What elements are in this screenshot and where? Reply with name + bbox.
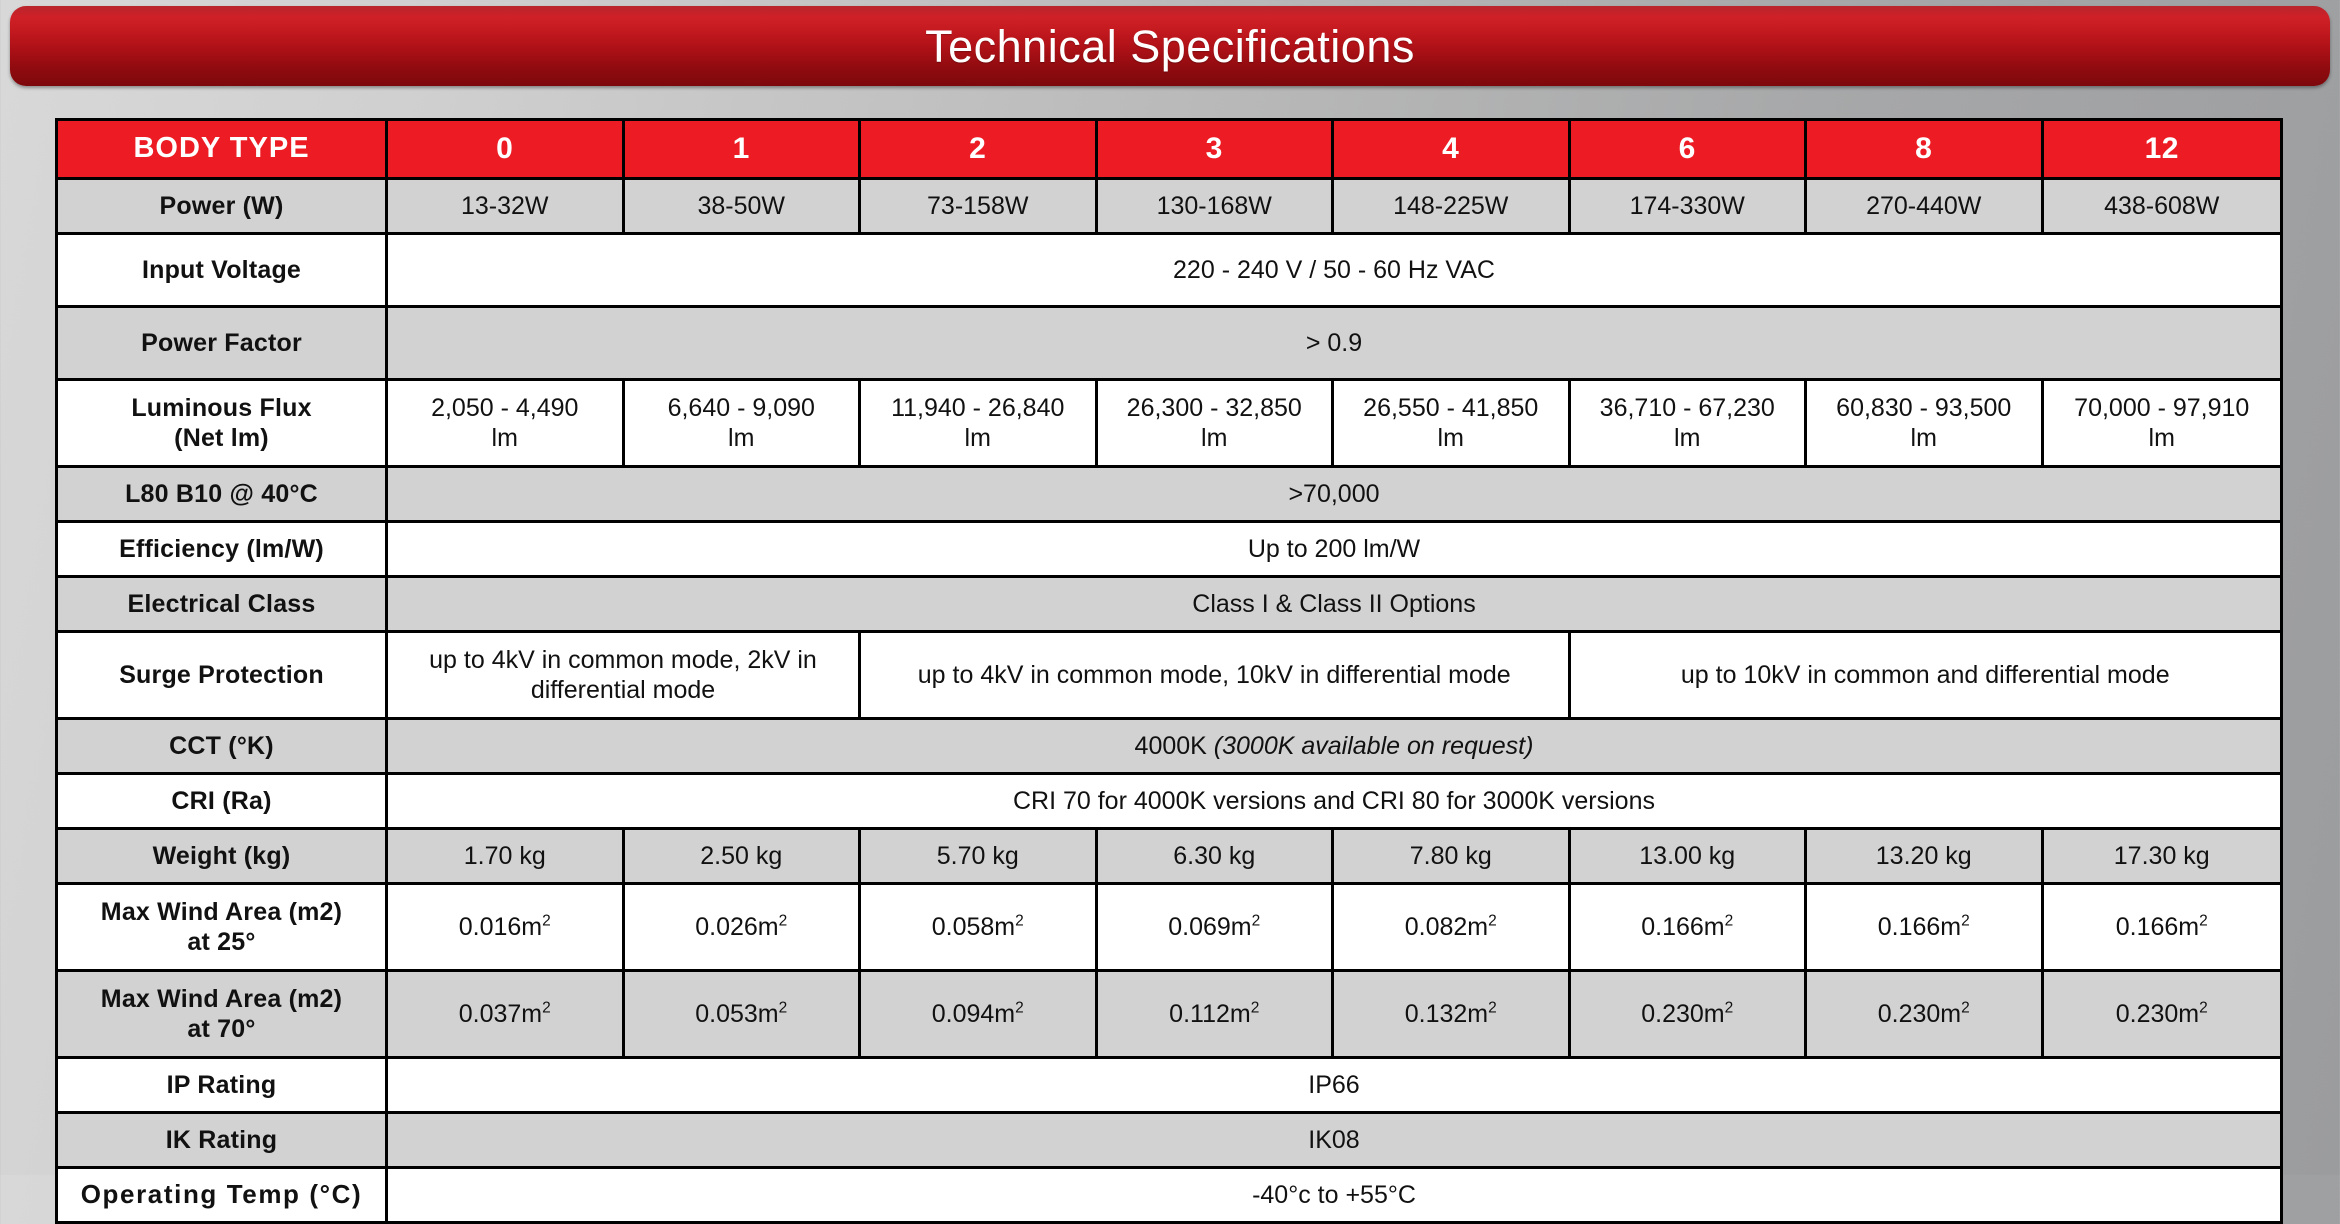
header-col-3: 3 (1098, 121, 1335, 180)
table-row: Max Wind Area (m2) at 25° 0.016m2 0.026m… (58, 885, 2280, 972)
row-label-l80-b10: L80 B10 @ 40°C (58, 468, 388, 523)
cell-luminous-flux-1: 6,640 - 9,090lm (625, 381, 862, 468)
cell-wind70-4: 0.132m2 (1334, 972, 1571, 1059)
cell-wind25-2: 0.058m2 (861, 885, 1098, 972)
cell-power-2: 73-158W (861, 180, 1098, 235)
row-label-surge-protection: Surge Protection (58, 633, 388, 720)
header-col-6: 6 (1571, 121, 1808, 180)
cell-power-1: 38-50W (625, 180, 862, 235)
cell-luminous-flux-3: 26,300 - 32,850lm (1098, 381, 1335, 468)
row-label-power-factor: Power Factor (58, 308, 388, 381)
page-title: Technical Specifications (925, 24, 1415, 69)
cell-wind70-12: 0.230m2 (2044, 972, 2281, 1059)
cell-electrical-class: Class I & Class II Options (388, 578, 2280, 633)
cell-power-3: 130-168W (1098, 180, 1335, 235)
cell-weight-1: 2.50 kg (625, 830, 862, 885)
row-label-max-wind-area-70: Max Wind Area (m2) at 70° (58, 972, 388, 1059)
table-row: Operating Temp (°C) -40°c to +55°C (58, 1169, 2280, 1221)
cell-power-4: 148-225W (1334, 180, 1571, 235)
row-label-power: Power (W) (58, 180, 388, 235)
row-label-line-2: at 70° (64, 1014, 379, 1045)
row-label-ik-rating: IK Rating (58, 1114, 388, 1169)
cell-weight-8: 13.20 kg (1807, 830, 2044, 885)
cell-ip-rating: IP66 (388, 1059, 2280, 1114)
row-label-cri: CRI (Ra) (58, 775, 388, 830)
cell-weight-3: 6.30 kg (1098, 830, 1335, 885)
cct-value: 4000K (1135, 732, 1214, 760)
row-label-weight: Weight (kg) (58, 830, 388, 885)
cell-wind70-3: 0.112m2 (1098, 972, 1335, 1059)
row-label-operating-temp: Operating Temp (°C) (58, 1169, 388, 1221)
table-row: CRI (Ra) CRI 70 for 4000K versions and C… (58, 775, 2280, 830)
cell-weight-0: 1.70 kg (388, 830, 625, 885)
cell-wind70-8: 0.230m2 (1807, 972, 2044, 1059)
cell-ik-rating: IK08 (388, 1114, 2280, 1169)
table-row: Electrical Class Class I & Class II Opti… (58, 578, 2280, 633)
row-label-max-wind-area-25: Max Wind Area (m2) at 25° (58, 885, 388, 972)
cell-weight-6: 13.00 kg (1571, 830, 1808, 885)
cell-weight-4: 7.80 kg (1334, 830, 1571, 885)
row-label-ip-rating: IP Rating (58, 1059, 388, 1114)
header-body-type: BODY TYPE (58, 121, 388, 180)
cell-wind25-1: 0.026m2 (625, 885, 862, 972)
row-label-line-1: Max Wind Area (m2) (64, 984, 379, 1015)
cell-luminous-flux-4: 26,550 - 41,850lm (1334, 381, 1571, 468)
cell-wind70-1: 0.053m2 (625, 972, 862, 1059)
cell-wind25-12: 0.166m2 (2044, 885, 2281, 972)
cell-wind70-6: 0.230m2 (1571, 972, 1808, 1059)
cell-operating-temp: -40°c to +55°C (388, 1169, 2280, 1221)
cell-luminous-flux-6: 36,710 - 67,230lm (1571, 381, 1808, 468)
cell-wind25-8: 0.166m2 (1807, 885, 2044, 972)
cell-weight-2: 5.70 kg (861, 830, 1098, 885)
cell-luminous-flux-12: 70,000 - 97,910lm (2044, 381, 2281, 468)
table-header-row: BODY TYPE 0 1 2 3 4 6 8 12 (58, 121, 2280, 180)
row-label-luminous-flux: Luminous Flux (Net lm) (58, 381, 388, 468)
table-row: Power (W) 13-32W 38-50W 73-158W 130-168W… (58, 180, 2280, 235)
cell-wind70-2: 0.094m2 (861, 972, 1098, 1059)
header-col-0: 0 (388, 121, 625, 180)
header-col-12: 12 (2044, 121, 2281, 180)
header-col-2: 2 (861, 121, 1098, 180)
table-row: L80 B10 @ 40°C >70,000 (58, 468, 2280, 523)
title-bar: Technical Specifications (10, 6, 2330, 86)
cell-surge-protection-b: up to 4kV in common mode, 10kV in differ… (861, 633, 1571, 720)
cell-power-0: 13-32W (388, 180, 625, 235)
header-col-4: 4 (1334, 121, 1571, 180)
table-row: IP Rating IP66 (58, 1059, 2280, 1114)
cct-note: (3000K available on request) (1214, 732, 1534, 760)
header-col-1: 1 (625, 121, 862, 180)
cell-efficiency: Up to 200 lm/W (388, 523, 2280, 578)
cell-cri: CRI 70 for 4000K versions and CRI 80 for… (388, 775, 2280, 830)
technical-specifications-table: BODY TYPE 0 1 2 3 4 6 8 12 Power (W) 13-… (55, 118, 2283, 1224)
cell-power-8: 270-440W (1807, 180, 2044, 235)
row-label-line-2: (Net lm) (64, 423, 379, 454)
row-label-efficiency: Efficiency (lm/W) (58, 523, 388, 578)
cell-surge-protection-a: up to 4kV in common mode, 2kV in differe… (388, 633, 861, 720)
cell-weight-12: 17.30 kg (2044, 830, 2281, 885)
table-row: Surge Protection up to 4kV in common mod… (58, 633, 2280, 720)
row-label-electrical-class: Electrical Class (58, 578, 388, 633)
row-label-input-voltage: Input Voltage (58, 235, 388, 308)
cell-power-factor: > 0.9 (388, 308, 2280, 381)
cell-surge-protection-c: up to 10kV in common and differential mo… (1571, 633, 2281, 720)
cell-power-6: 174-330W (1571, 180, 1808, 235)
cell-wind25-0: 0.016m2 (388, 885, 625, 972)
table-row: Efficiency (lm/W) Up to 200 lm/W (58, 523, 2280, 578)
table-row: Max Wind Area (m2) at 70° 0.037m2 0.053m… (58, 972, 2280, 1059)
table-row: Input Voltage 220 - 240 V / 50 - 60 Hz V… (58, 235, 2280, 308)
row-label-line-1: Luminous Flux (64, 393, 379, 424)
cell-wind25-3: 0.069m2 (1098, 885, 1335, 972)
table-row: CCT (°K) 4000K (3000K available on reque… (58, 720, 2280, 775)
header-col-8: 8 (1807, 121, 2044, 180)
cell-wind70-0: 0.037m2 (388, 972, 625, 1059)
cell-wind25-4: 0.082m2 (1334, 885, 1571, 972)
cell-cct: 4000K (3000K available on request) (388, 720, 2280, 775)
table-row: Power Factor > 0.9 (58, 308, 2280, 381)
row-label-line-2: at 25° (64, 927, 379, 958)
cell-wind25-6: 0.166m2 (1571, 885, 1808, 972)
cell-luminous-flux-2: 11,940 - 26,840lm (861, 381, 1098, 468)
cell-power-12: 438-608W (2044, 180, 2281, 235)
cell-luminous-flux-8: 60,830 - 93,500lm (1807, 381, 2044, 468)
table-row: Weight (kg) 1.70 kg 2.50 kg 5.70 kg 6.30… (58, 830, 2280, 885)
spec-table-wrapper: BODY TYPE 0 1 2 3 4 6 8 12 Power (W) 13-… (55, 118, 2283, 1224)
table-row: IK Rating IK08 (58, 1114, 2280, 1169)
cell-l80-b10: >70,000 (388, 468, 2280, 523)
row-label-line-1: Max Wind Area (m2) (64, 897, 379, 928)
row-label-cct: CCT (°K) (58, 720, 388, 775)
cell-input-voltage: 220 - 240 V / 50 - 60 Hz VAC (388, 235, 2280, 308)
cell-luminous-flux-0: 2,050 - 4,490lm (388, 381, 625, 468)
table-row: Luminous Flux (Net lm) 2,050 - 4,490lm 6… (58, 381, 2280, 468)
